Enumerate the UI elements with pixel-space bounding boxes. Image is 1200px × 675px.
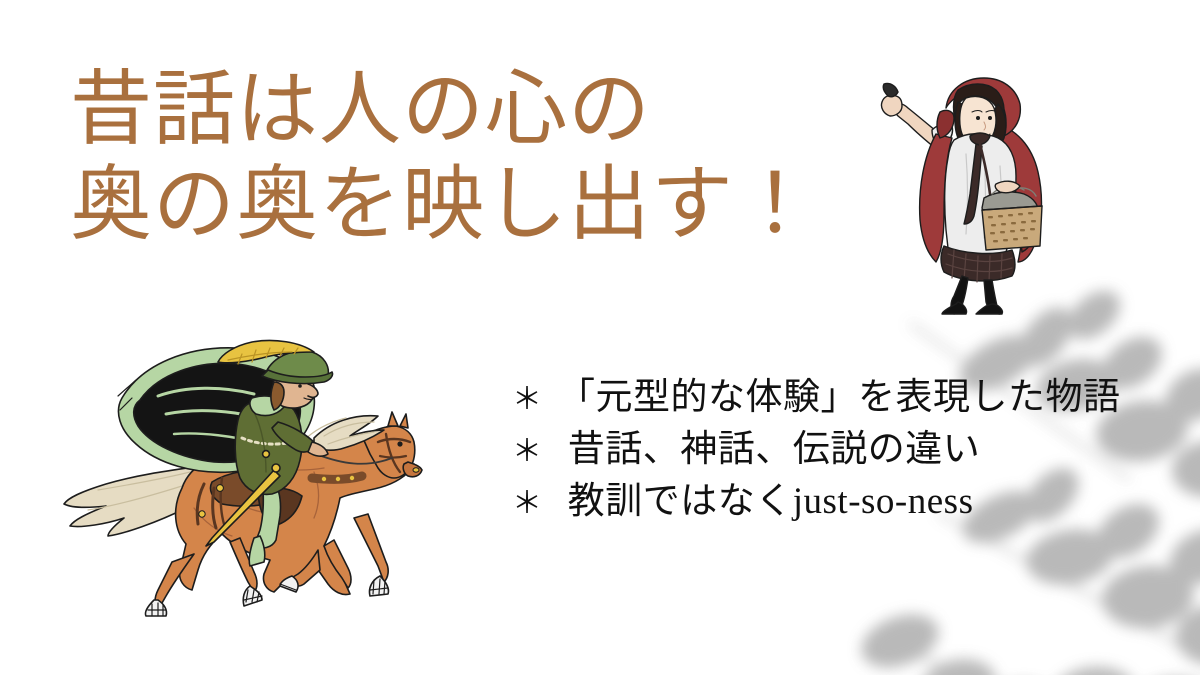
rider-on-horse-illustration (62, 338, 462, 616)
list-item: ＊ 昔話、神話、伝説の違い (512, 428, 1152, 480)
list-item-label: 昔話、神話、伝説の違い (558, 428, 980, 472)
asterisk-bullet-icon: ＊ (512, 378, 558, 422)
list-item: ＊ 「元型的な体験」を表現した物語 (512, 376, 1152, 428)
page-title: 昔話は人の心の 奥の奥を映し出す！ (70, 62, 890, 252)
title-line-1: 昔話は人の心の (70, 62, 890, 157)
list-item: ＊ 教訓ではなくjust-so-ness (512, 480, 1152, 532)
asterisk-bullet-icon: ＊ (512, 482, 558, 526)
list-item-label: 教訓ではなくjust-so-ness (558, 480, 973, 524)
little-red-riding-hood-illustration (874, 74, 1070, 314)
slide-canvas: 昔話は人の心の 奥の奥を映し出す！ ＊ 「元型的な体験」を表現した物語 ＊ 昔話… (0, 0, 1200, 675)
title-line-2: 奥の奥を映し出す！ (70, 157, 890, 252)
bullet-list: ＊ 「元型的な体験」を表現した物語 ＊ 昔話、神話、伝説の違い ＊ 教訓ではなく… (512, 376, 1152, 532)
list-item-label: 「元型的な体験」を表現した物語 (558, 376, 1121, 420)
asterisk-bullet-icon: ＊ (512, 430, 558, 474)
